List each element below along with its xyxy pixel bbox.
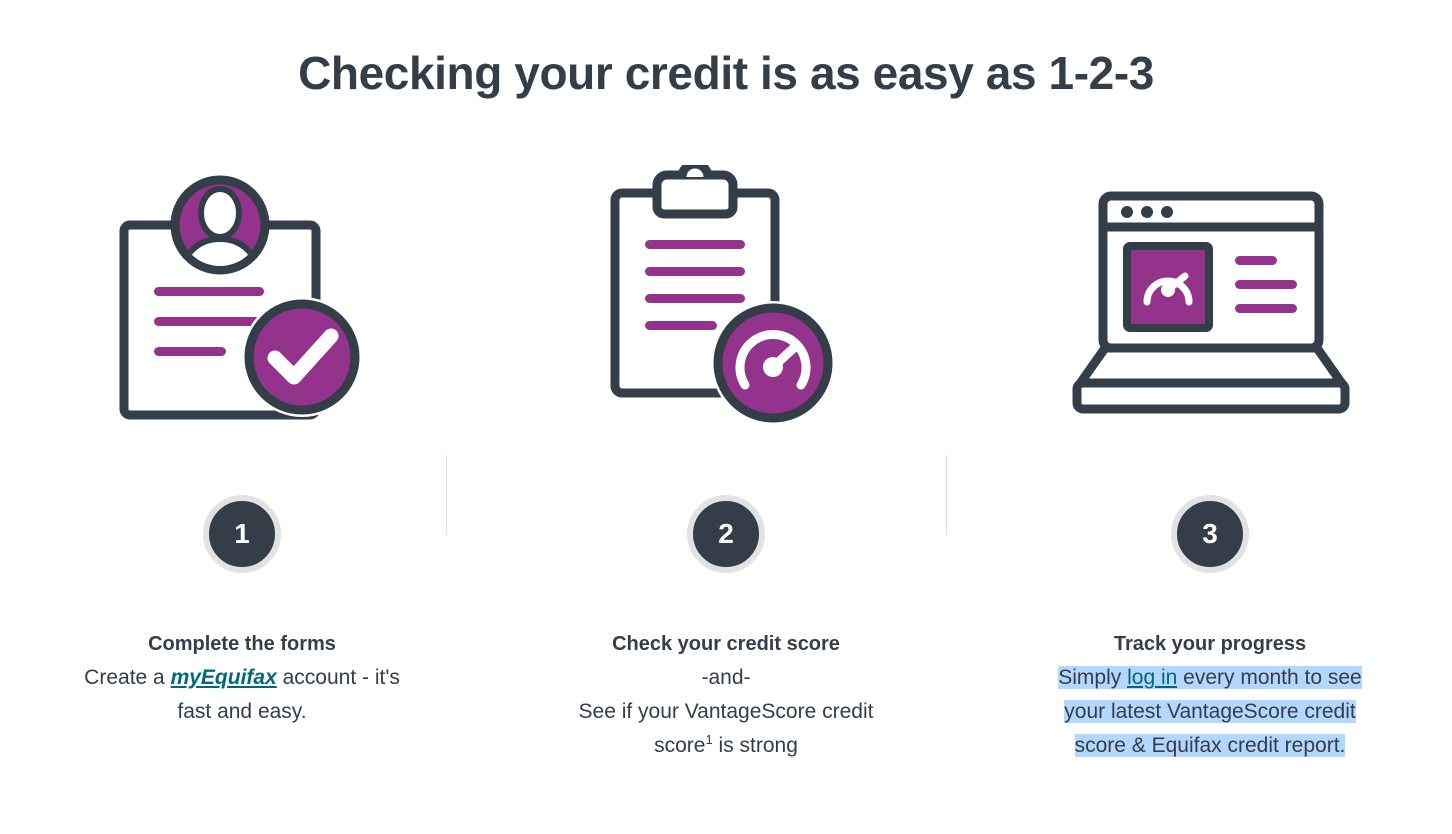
step-caption-3: Track your progress Simply log in every … bbox=[1010, 628, 1410, 763]
step-number-badge-2: 2 bbox=[687, 495, 765, 573]
step-body-1: Create a myEquifax account - it's fast a… bbox=[42, 661, 442, 729]
step-number-badge-3: 3 bbox=[1171, 495, 1249, 573]
step-number-badge-1: 1 bbox=[203, 495, 281, 573]
step-body-line-1-2: -and- bbox=[526, 661, 926, 695]
step-body-line-3-2: score1 is strong bbox=[526, 729, 926, 763]
step-body-text-pre-1: Create a bbox=[84, 666, 170, 689]
log-in-link[interactable]: log in bbox=[1127, 666, 1177, 689]
clipboard-with-gauge-icon bbox=[576, 150, 876, 450]
step-body-line-3-3: score & Equifax credit report. bbox=[1010, 729, 1410, 763]
step-body-text-post-2: is strong bbox=[713, 734, 798, 757]
laptop-dashboard-icon bbox=[1060, 150, 1360, 450]
step-body-text-post-1: account - it's bbox=[277, 666, 400, 689]
step-caption-1: Complete the forms Create a myEquifax ac… bbox=[42, 628, 442, 729]
step-body-text-post-3: every month to see bbox=[1177, 666, 1361, 689]
step-body-text-pre-2: score bbox=[654, 734, 705, 757]
step-heading-3: Track your progress bbox=[1010, 628, 1410, 660]
step-number-1: 1 bbox=[234, 520, 250, 548]
step-body-2: -and- See if your VantageScore credit sc… bbox=[526, 661, 926, 763]
step-heading-2: Check your credit score bbox=[526, 628, 926, 660]
step-column-3: 3 Track your progress Simply log in ever… bbox=[968, 150, 1452, 763]
myequifax-link[interactable]: myEquifax bbox=[171, 666, 277, 689]
step-body-text-pre-3: Simply bbox=[1058, 666, 1127, 689]
step-column-1: 1 Complete the forms Create a myEquifax … bbox=[0, 150, 484, 729]
step-body-line-2-1: fast and easy. bbox=[42, 695, 442, 729]
step-heading-1: Complete the forms bbox=[42, 628, 442, 660]
step-column-2: 2 Check your credit score -and- See if y… bbox=[484, 150, 968, 763]
id-form-with-checkmark-icon bbox=[92, 150, 392, 450]
step-body-line-3-text-3: score & Equifax credit report. bbox=[1075, 734, 1346, 757]
step-body-line-1: Create a myEquifax account - it's bbox=[42, 661, 442, 695]
step-caption-2: Check your credit score -and- See if you… bbox=[526, 628, 926, 763]
step-body-3: Simply log in every month to see your la… bbox=[1010, 661, 1410, 763]
step-body-line-1-3: Simply log in every month to see bbox=[1010, 661, 1410, 695]
step-body-line-2-2: See if your VantageScore credit bbox=[526, 695, 926, 729]
page-title: Checking your credit is as easy as 1-2-3 bbox=[0, 45, 1452, 103]
step-number-3: 3 bbox=[1202, 520, 1218, 548]
step-body-line-2-3: your latest VantageScore credit bbox=[1010, 695, 1410, 729]
footnote-marker: 1 bbox=[705, 732, 712, 747]
step-body-line-2-text-3: your latest VantageScore credit bbox=[1064, 700, 1355, 723]
credit-steps-page: Checking your credit is as easy as 1-2-3 bbox=[0, 0, 1452, 834]
step-number-2: 2 bbox=[718, 520, 734, 548]
steps-row: 1 Complete the forms Create a myEquifax … bbox=[0, 150, 1452, 763]
